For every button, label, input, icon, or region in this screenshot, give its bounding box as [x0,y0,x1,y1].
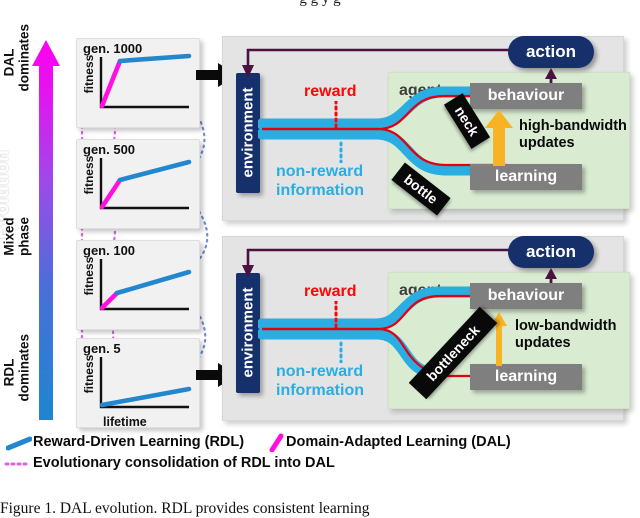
phase-label-mixed-phase: Mixed phase [3,208,32,266]
fitness-plot-gen-500: gen. 500 fitness [76,139,200,229]
top-action-label: action [526,42,576,62]
top-cutoff-text: g g y g [0,0,640,9]
bottom-reward-label: reward [304,283,356,301]
fitness-plot-gen-100: gen. 100 fitness [76,240,200,330]
bottom-learning-box[interactable]: learning [470,364,582,390]
top-action-pill[interactable]: action [508,36,594,68]
top-bandwidth-label: high-bandwidth updates [519,118,627,152]
phase-label-dal-dominates: DAL dominates [3,34,32,92]
legend-dal-swatch [268,433,286,457]
legend-dal-label: Domain-Adapted Learning (DAL) [286,434,511,450]
legend-evolution-swatch [4,456,32,475]
top-behaviour-label: behaviour [488,87,564,105]
top-behaviour-box[interactable]: behaviour [470,83,582,109]
bottom-environment-box[interactable]: environment [236,273,260,393]
top-reward-pointer [333,101,339,134]
bottom-environment-label: environment [240,273,257,393]
bottom-behaviour-label: behaviour [488,287,564,305]
legend-rdl-swatch [6,435,32,456]
top-reward-label: reward [304,83,356,101]
bottom-action-label: action [526,242,576,262]
top-nonreward-label: non-reward information [276,162,364,200]
bottom-nonreward-label: non-reward information [276,362,364,400]
fitness-plot-gen-1000: gen. 1000 fitness [76,38,200,128]
phase-label-rdl-dominates: RDL dominates [3,344,32,402]
legend-rdl-label: Reward-Driven Learning (RDL) [33,434,244,450]
bottom-behaviour-box[interactable]: behaviour [470,283,582,309]
bottom-reward-pointer [333,301,339,334]
bottom-bandwidth-label: low-bandwidth updates [515,318,616,352]
top-environment-label: environment [240,73,257,193]
fitness-plot-gen-5: gen. 5 fitness lifetime [76,338,200,428]
top-environment-box[interactable]: environment [236,73,260,193]
bottom-action-pill[interactable]: action [508,236,594,268]
legend-evolution-label: Evolutionary consolidation of RDL into D… [33,455,335,471]
top-update-arrow [483,108,515,171]
figure-caption: Figure 1. DAL evolution. RDL provides co… [0,500,640,518]
